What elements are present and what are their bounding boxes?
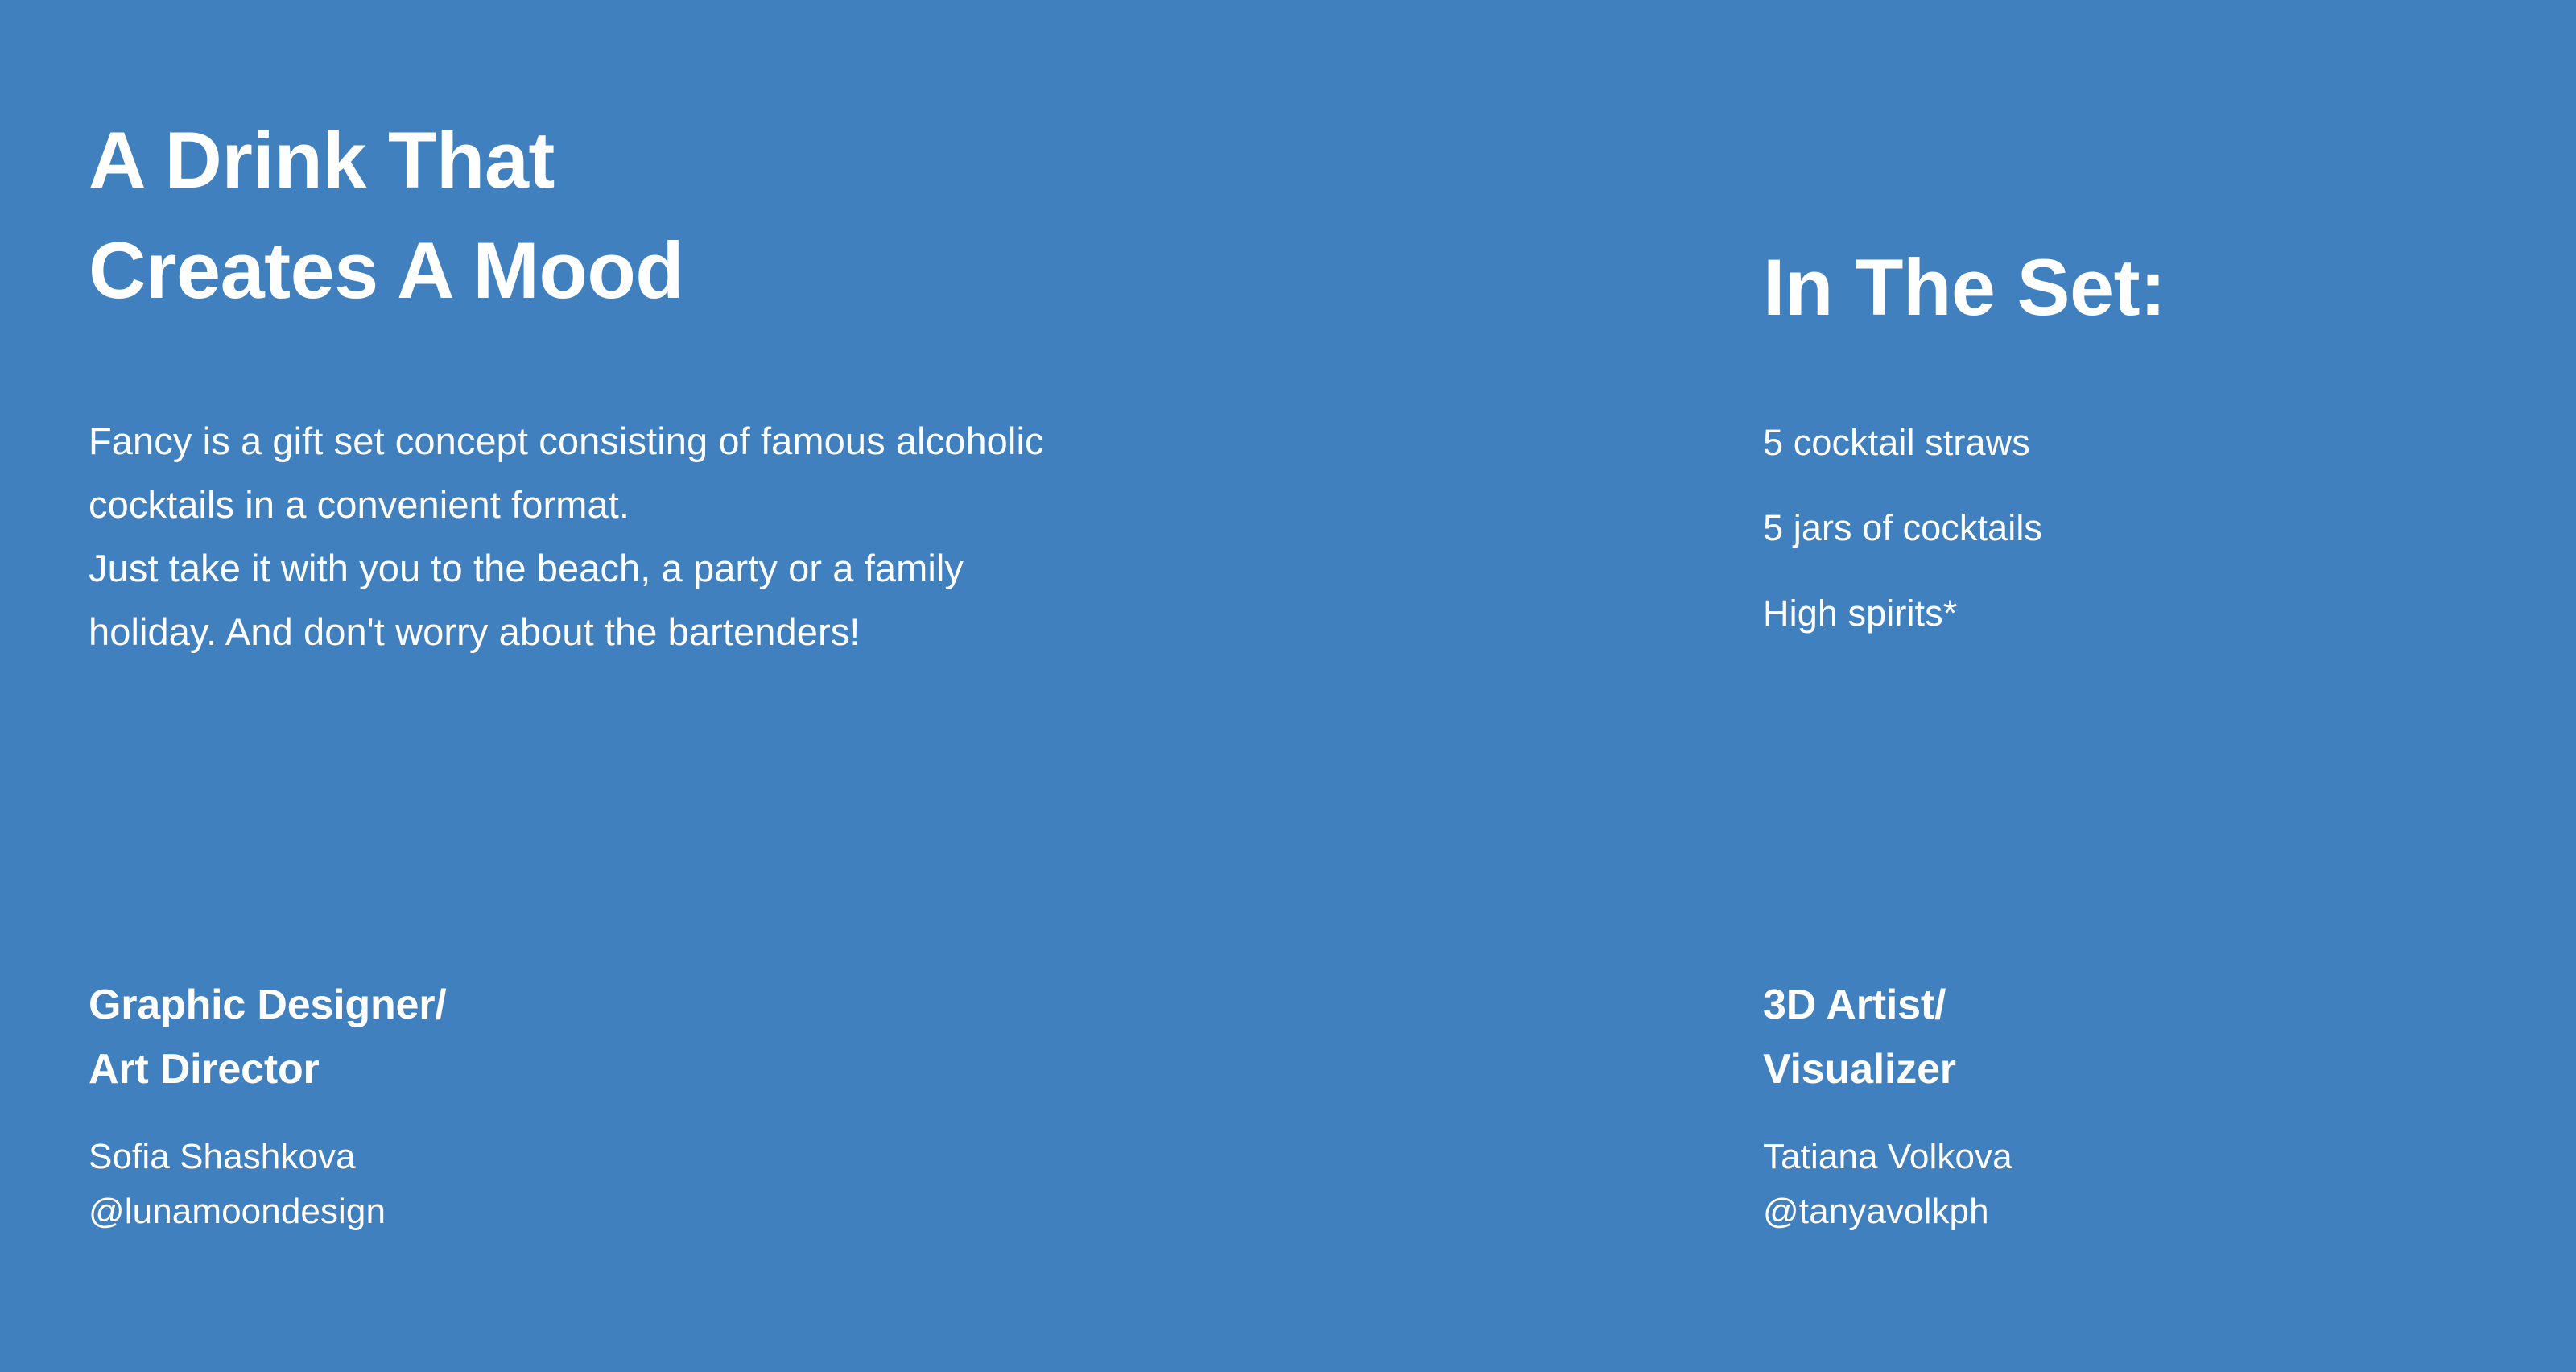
credit-handle: @lunamoondesign [89,1184,894,1239]
credit-name: Sofia Shashkova [89,1130,894,1184]
credit-role-title: Graphic Designer/ Art Director [89,973,894,1101]
set-contents-title: In The Set: [1763,232,2166,342]
credit-block-3d-artist: 3D Artist/ Visualizer Tatiana Volkova @t… [1763,973,2568,1239]
credit-handle: @tanyavolkph [1763,1184,2568,1239]
list-item: High spirits* [1763,590,2487,637]
page-title: A Drink That Creates A Mood [89,105,1135,325]
credit-person: Tatiana Volkova @tanyavolkph [1763,1130,2568,1239]
list-item: 5 jars of cocktails [1763,505,2487,552]
set-contents-list: 5 cocktail straws 5 jars of cocktails Hi… [1763,419,2487,637]
credit-role-title: 3D Artist/ Visualizer [1763,973,2568,1101]
credit-block-designer: Graphic Designer/ Art Director Sofia Sha… [89,973,894,1239]
credit-person: Sofia Shashkova @lunamoondesign [89,1130,894,1239]
list-item: 5 cocktail straws [1763,419,2487,466]
slide-canvas: A Drink That Creates A Mood Fancy is a g… [0,0,2576,1372]
hero-description: Fancy is a gift set concept consisting o… [89,409,1079,663]
credits-row: Graphic Designer/ Art Director Sofia Sha… [0,973,2576,1295]
credit-name: Tatiana Volkova [1763,1130,2568,1184]
